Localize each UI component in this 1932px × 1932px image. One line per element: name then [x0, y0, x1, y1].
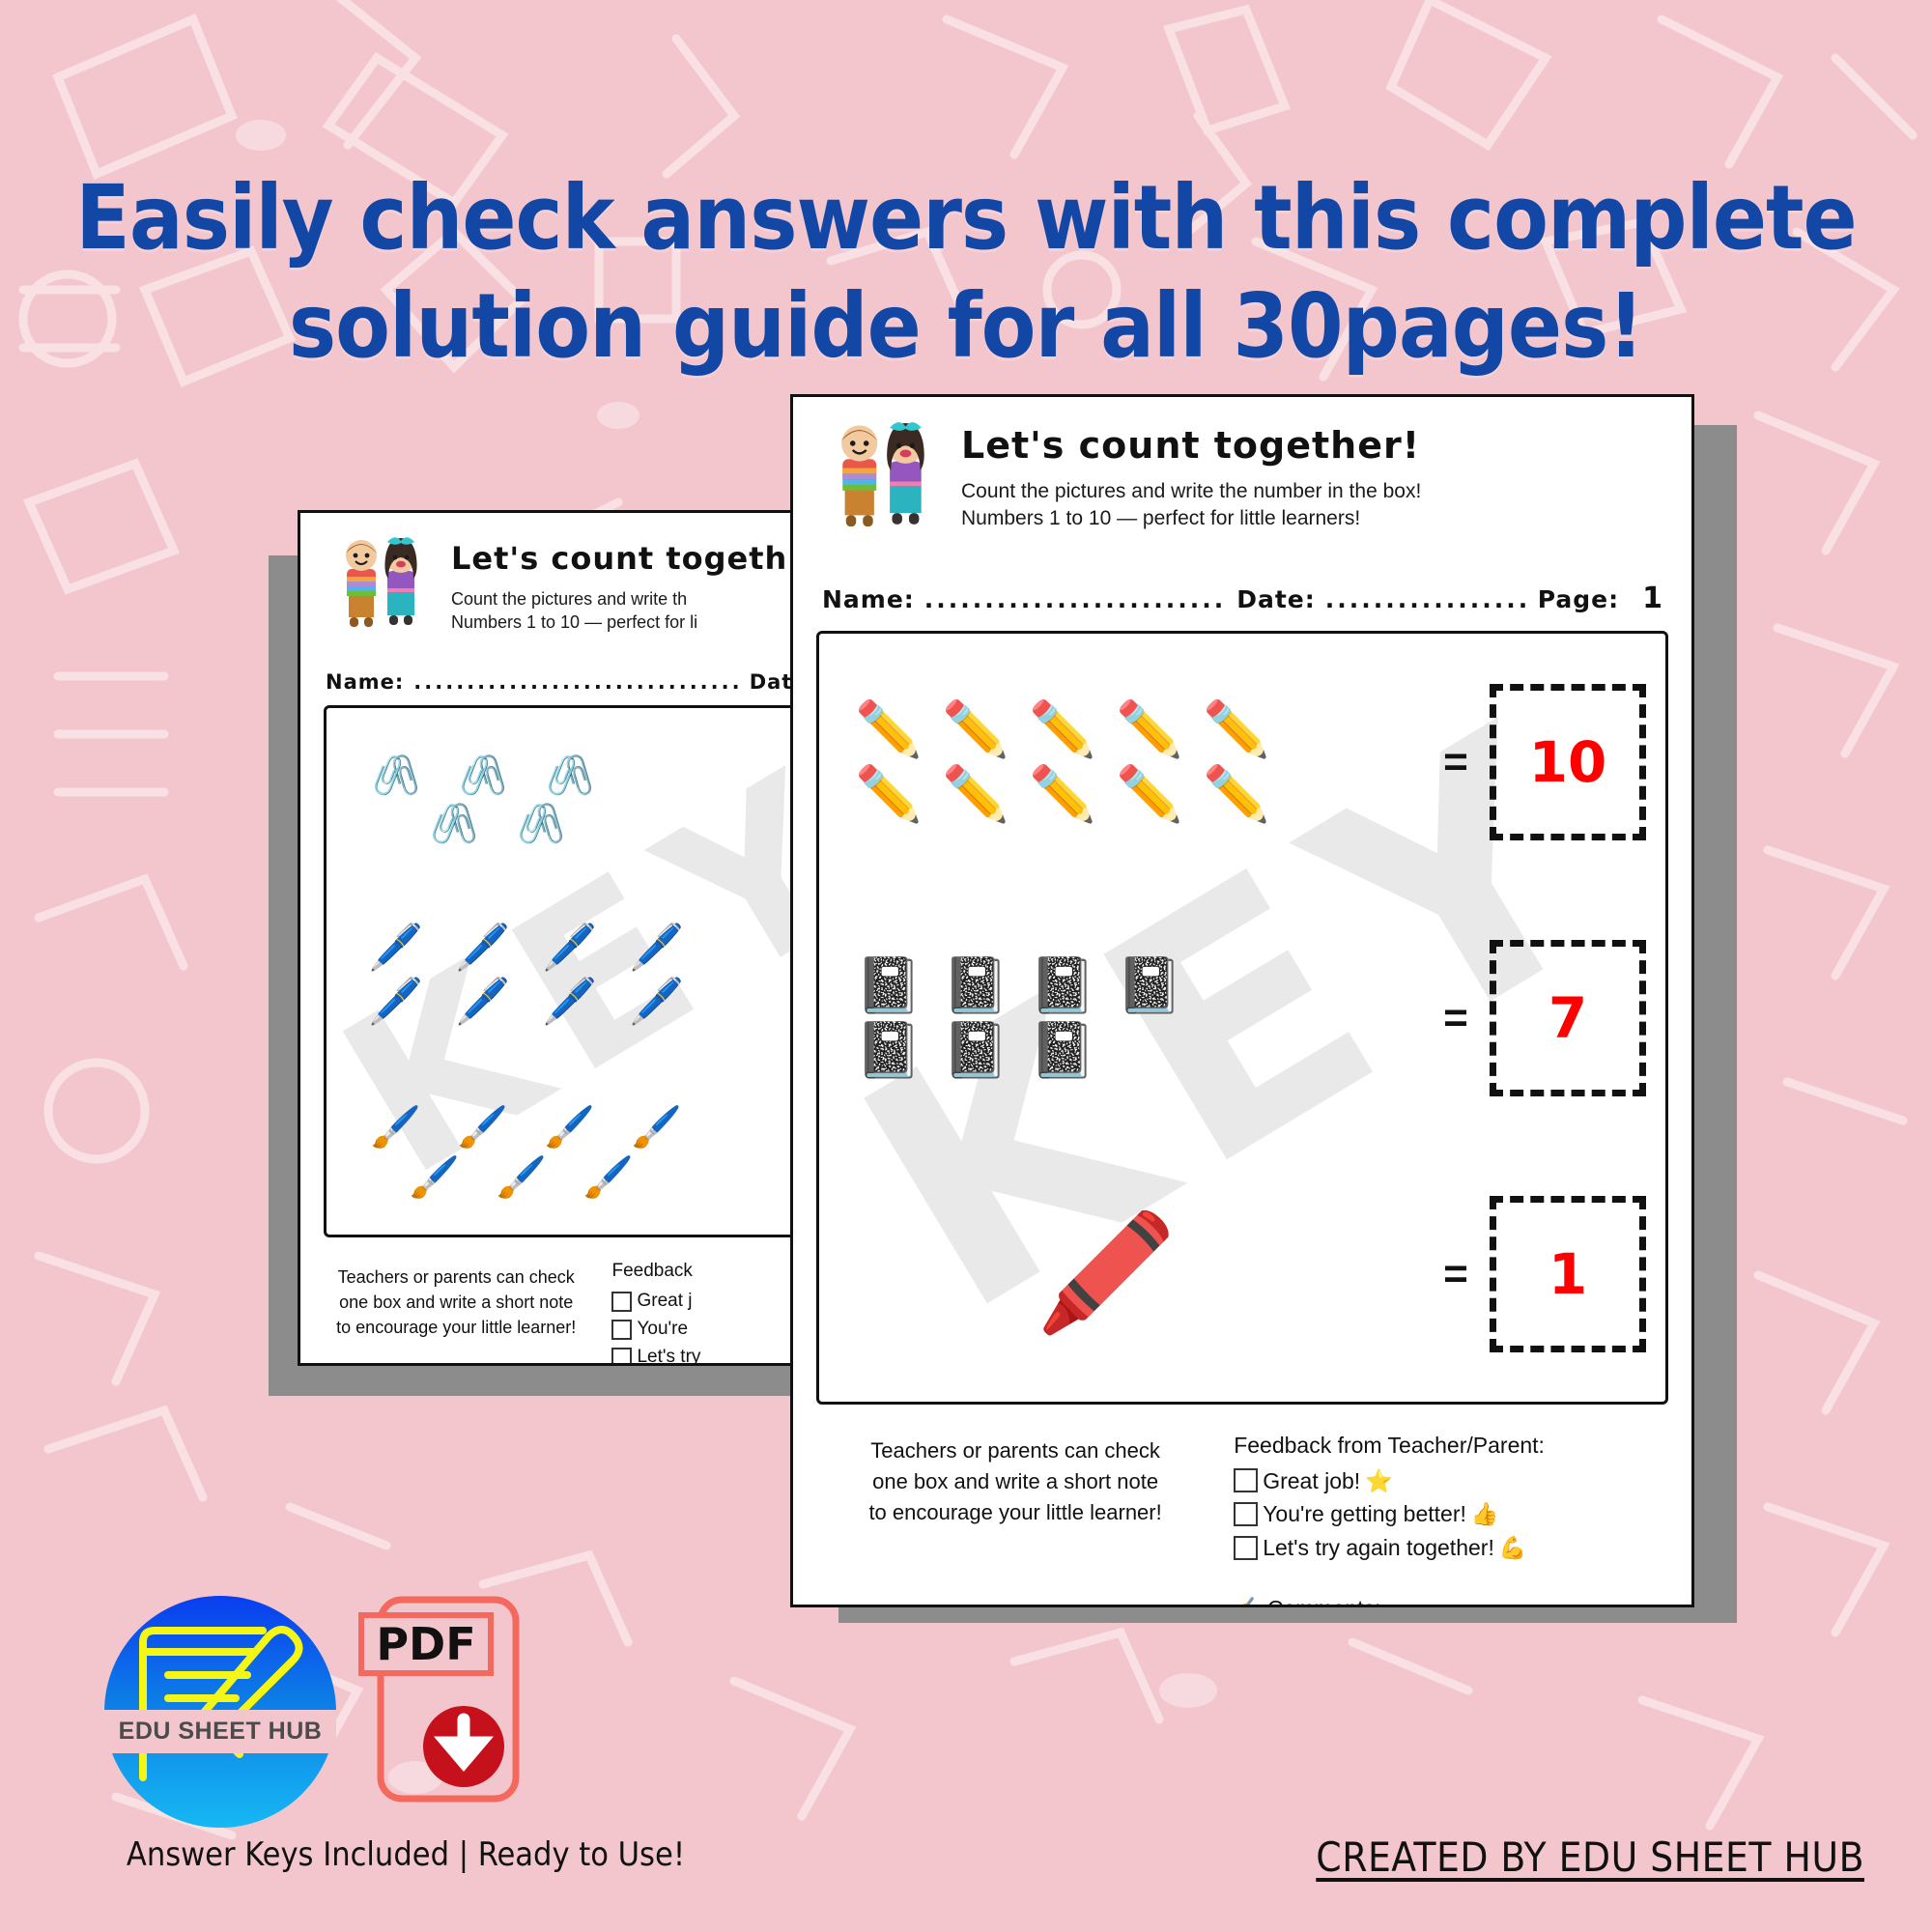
notebook-icon: 📓 — [1109, 957, 1190, 1014]
front-feedback-option-3-label: Let's try again together! — [1263, 1532, 1494, 1564]
front-comments-row: ✍️ Comments: ...........................… — [1234, 1593, 1694, 1607]
answer-box-2[interactable]: 7 — [1490, 940, 1646, 1096]
front-feedback-option-1-label: Great job! — [1263, 1465, 1360, 1497]
front-footer-note: Teachers or parents can check one box an… — [822, 1430, 1208, 1607]
back-feedback-option-3-label: Let's try — [637, 1345, 700, 1366]
back-feedback-option-2-label: You're — [637, 1317, 688, 1343]
pencil-icon: ✏️ — [935, 766, 1016, 823]
front-worksheet-title: Let's count together! — [961, 424, 1664, 467]
paintbrush-icon: 🖌️ — [481, 1156, 562, 1199]
flexed-biceps-icon: 💪 — [1499, 1532, 1527, 1564]
highlighter-icon: 🖊️ — [355, 923, 437, 970]
front-name-dots[interactable]: ........................................… — [924, 585, 1227, 613]
front-worksheet-header: Let's count together! Count the pictures… — [793, 397, 1691, 556]
highlighter-icon: 🖊️ — [616, 923, 697, 970]
back-footer-note-line-1: Teachers or parents can check — [326, 1264, 586, 1290]
front-instruction-line-1: Count the pictures and write the number … — [961, 478, 1664, 505]
front-footer: Teachers or parents can check one box an… — [793, 1405, 1691, 1607]
highlighter-icon: 🖊️ — [442, 978, 524, 1024]
checkbox-icon[interactable] — [611, 1292, 632, 1312]
front-feedback-block: Feedback from Teacher/Parent: Great job!… — [1234, 1430, 1694, 1607]
checkbox-icon[interactable] — [611, 1348, 632, 1366]
credit-line: CREATED BY EDU SHEET HUB — [1316, 1833, 1864, 1881]
edu-sheet-hub-logo: EDU SHEET HUB — [104, 1596, 336, 1828]
equals-sign-2: = — [1422, 994, 1490, 1042]
front-page-number: 1 — [1629, 582, 1662, 615]
front-feedback-option-3[interactable]: Let's try again together! 💪 — [1234, 1532, 1694, 1564]
highlighter-icon: 🖊️ — [529, 978, 611, 1024]
back-footer-note: Teachers or parents can check one box an… — [326, 1259, 586, 1366]
kids-illustration-icon — [327, 534, 434, 653]
front-feedback-title: Feedback from Teacher/Parent: — [1234, 1430, 1694, 1462]
pencil-icon: ✏️ — [935, 701, 1016, 758]
notebook-icon: 📓 — [1022, 957, 1103, 1014]
thumbs-up-icon: 👍 — [1471, 1498, 1499, 1530]
pencil-icon: ✏️ — [1022, 701, 1103, 758]
paperclip-icon: 🖇️ — [500, 804, 582, 844]
front-comments-label: Comments: — [1267, 1593, 1381, 1607]
pencil-icon: ✏️ — [1109, 701, 1190, 758]
highlighter-icon: 🖊️ — [616, 978, 697, 1024]
question-1-pictures: ✏️ ✏️ ✏️ ✏️ ✏️ ✏️ ✏️ ✏️ ✏️ ✏️ — [838, 701, 1422, 823]
front-footer-note-line-3: to encourage your little learner! — [822, 1497, 1208, 1528]
checkbox-icon[interactable] — [1234, 1502, 1258, 1526]
paperclip-icon: 🖇️ — [442, 755, 524, 796]
question-2-pictures: 📓 📓 📓 📓 📓 📓 📓 — [838, 957, 1422, 1079]
pencil-icon: ✏️ — [1196, 701, 1277, 758]
notebook-icon: 📓 — [1022, 1022, 1103, 1079]
front-date-label: Date: — [1236, 585, 1316, 613]
headline-line-1: Easily check answers with this complete — [75, 166, 1856, 270]
paintbrush-icon: 🖌️ — [568, 1156, 649, 1199]
star-icon: ⭐ — [1365, 1465, 1393, 1497]
pencil-icon: ✏️ — [848, 766, 929, 823]
notebook-icon: 📓 — [848, 1022, 929, 1079]
tagline: Answer Keys Included | Ready to Use! — [58, 1835, 753, 1874]
paintbrush-icon: 🖌️ — [529, 1106, 611, 1149]
headline-line-2: solution guide for all 30pages! — [0, 272, 1932, 381]
question-row-2: 📓 📓 📓 📓 📓 📓 📓 = 7 — [819, 890, 1665, 1146]
front-footer-note-line-2: one box and write a short note — [822, 1466, 1208, 1497]
paperclip-icon: 🖇️ — [529, 755, 611, 796]
pencil-icon: ✏️ — [1022, 766, 1103, 823]
question-row-3: 🖍️ = 1 — [819, 1146, 1665, 1402]
front-feedback-option-2[interactable]: You're getting better! 👍 — [1234, 1498, 1694, 1530]
back-feedback-option-1-label: Great j — [637, 1289, 692, 1315]
paperclip-icon: 🖇️ — [355, 755, 437, 796]
equals-sign-1: = — [1422, 738, 1490, 786]
pencil-icon: ✏️ — [848, 701, 929, 758]
answer-box-1[interactable]: 10 — [1490, 684, 1646, 840]
front-footer-note-line-1: Teachers or parents can check — [822, 1435, 1208, 1466]
checkbox-icon[interactable] — [1234, 1536, 1258, 1560]
pencil-icon: ✏️ — [1109, 766, 1190, 823]
front-date-dots[interactable]: ............................... — [1325, 585, 1528, 613]
logo-wordmark: EDU SHEET HUB — [104, 1710, 336, 1753]
page-headline: Easily check answers with this complete … — [0, 164, 1932, 381]
checkbox-icon[interactable] — [1234, 1468, 1258, 1492]
checkbox-icon[interactable] — [611, 1320, 632, 1340]
paintbrush-icon: 🖌️ — [355, 1106, 437, 1149]
front-worksheet-titles: Let's count together! Count the pictures… — [961, 418, 1664, 531]
notebook-icon: 📓 — [848, 957, 929, 1014]
front-question-area: KEY ✏️ ✏️ ✏️ ✏️ ✏️ ✏️ ✏️ ✏️ ✏️ ✏️ = 10 📓 — [816, 631, 1668, 1405]
answer-box-3[interactable]: 1 — [1490, 1196, 1646, 1352]
pdf-download-badge[interactable]: PDF — [357, 1592, 531, 1822]
paintbrush-icon: 🖌️ — [442, 1106, 524, 1149]
front-instruction-line-2: Numbers 1 to 10 — perfect for little lea… — [961, 505, 1664, 532]
front-comments-dots[interactable]: ........................................… — [1386, 1593, 1694, 1607]
notebook-icon: 📓 — [935, 1022, 1016, 1079]
paintbrush-icon: 🖌️ — [394, 1156, 475, 1199]
highlighter-icon: 🖊️ — [442, 923, 524, 970]
writing-hand-icon: ✍️ — [1234, 1593, 1262, 1607]
front-page-label: Page: — [1538, 585, 1619, 613]
back-footer-note-line-3: to encourage your little learner! — [326, 1315, 586, 1340]
back-name-dots[interactable]: ................................. — [413, 670, 739, 694]
front-meta-row: Name: ..................................… — [793, 556, 1691, 631]
paperclip-icon: 🖇️ — [413, 804, 495, 844]
highlighter-icon: 🖊️ — [355, 978, 437, 1024]
front-name-label: Name: — [822, 585, 915, 613]
worksheet-front[interactable]: Let's count together! Count the pictures… — [790, 394, 1694, 1607]
notebook-icon: 📓 — [935, 957, 1016, 1014]
highlighter-icon: 🖊️ — [529, 923, 611, 970]
kids-illustration-icon — [820, 418, 944, 556]
equals-sign-3: = — [1422, 1250, 1490, 1298]
pencil-icon: ✏️ — [1196, 766, 1277, 823]
crayon-box-icon: 🖍️ — [1034, 1214, 1179, 1334]
back-name-label: Name: — [326, 670, 404, 694]
back-footer-note-line-2: one box and write a short note — [326, 1290, 586, 1315]
paintbrush-icon: 🖌️ — [616, 1106, 697, 1149]
front-feedback-option-2-label: You're getting better! — [1263, 1498, 1466, 1530]
front-feedback-option-1[interactable]: Great job! ⭐ — [1234, 1465, 1694, 1497]
question-row-1: ✏️ ✏️ ✏️ ✏️ ✏️ ✏️ ✏️ ✏️ ✏️ ✏️ = 10 — [819, 634, 1665, 890]
question-3-pictures: 🖍️ — [838, 1214, 1422, 1334]
pdf-badge-label: PDF — [376, 1618, 475, 1670]
